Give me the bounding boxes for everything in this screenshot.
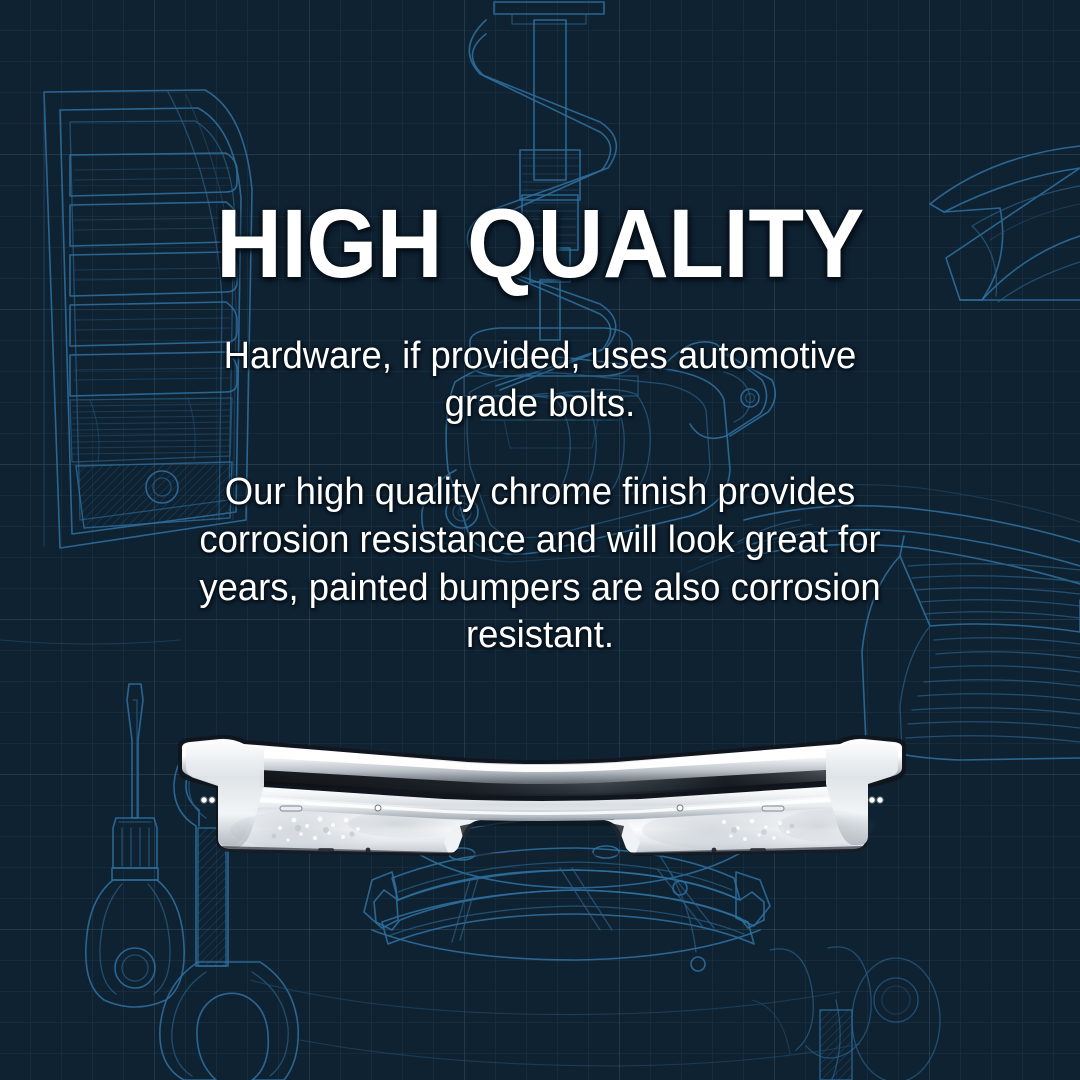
- wrench-secondary-blueprint: [752, 947, 940, 1080]
- chrome-bumper-product-image: [168, 722, 916, 872]
- promo-banner: HIGH QUALITY Hardware, if provided, uses…: [0, 0, 1080, 1080]
- body-paragraph-1: Hardware, if provided, uses automotive g…: [175, 333, 905, 429]
- body-paragraph-2: Our high quality chrome finish provides …: [161, 469, 919, 661]
- text-content: HIGH QUALITY Hardware, if provided, uses…: [0, 0, 1080, 660]
- page-title: HIGH QUALITY: [32, 0, 1047, 291]
